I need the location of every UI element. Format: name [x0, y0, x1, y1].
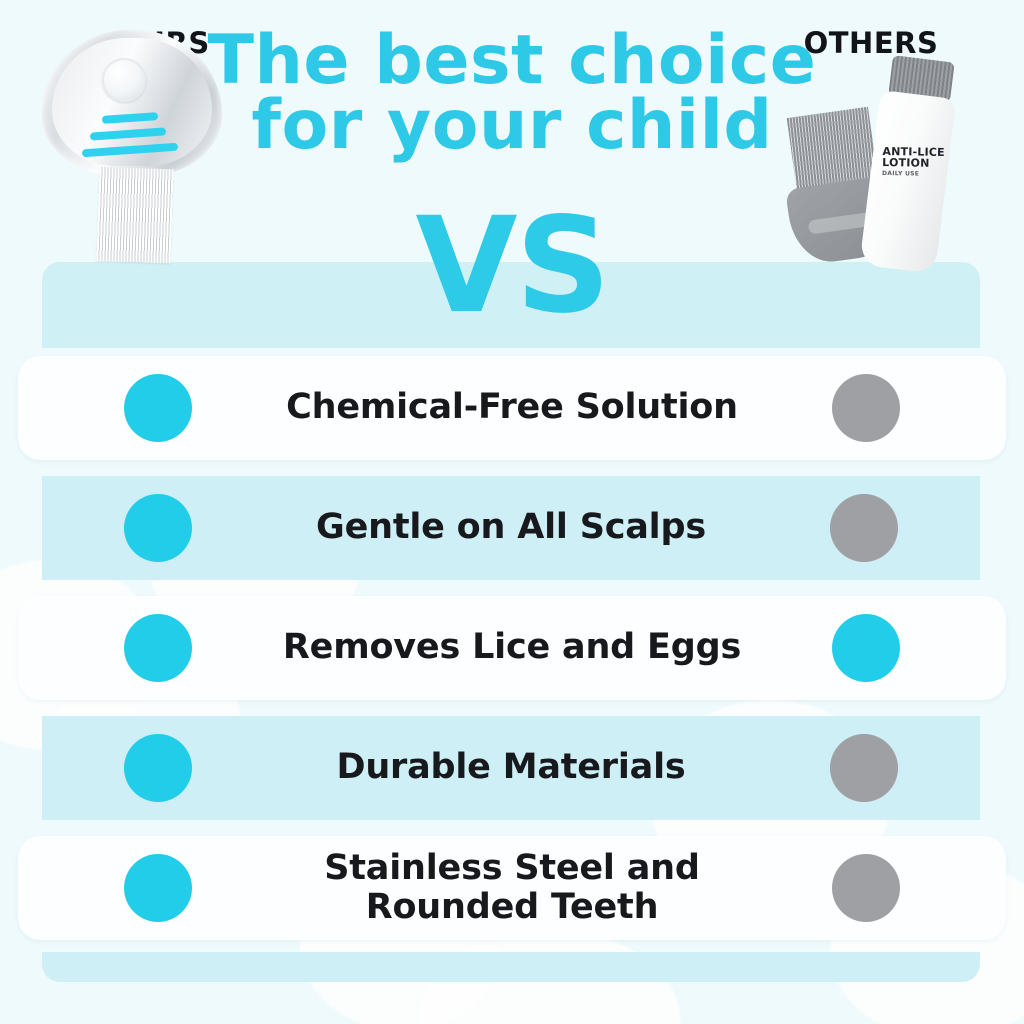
comparison-infographic: The best choice for your child VS ANTI-L… [0, 0, 1024, 1024]
feature-label-line-1: Chemical-Free Solution [286, 387, 738, 427]
table-row: Chemical-Free Solution [18, 356, 1006, 460]
cross-dot-others [830, 734, 898, 802]
feature-label-line-1: Gentle on All Scalps [316, 507, 706, 547]
cross-dot-others [832, 854, 900, 922]
headline-line-2: for your child [0, 93, 1024, 158]
table-row: Gentle on All Scalps [42, 476, 980, 580]
table-row: Removes Lice and Eggs [18, 596, 1006, 700]
check-dot-others [832, 614, 900, 682]
bottle-label-sub: DAILY USE [882, 170, 946, 178]
feature-label-line-1: Durable Materials [336, 747, 685, 787]
bottle-label-line-2: LOTION [882, 157, 946, 169]
page-title: The best choice for your child [0, 28, 1024, 159]
feature-label-line-1: Stainless Steel and [324, 848, 699, 888]
cross-dot-others [832, 374, 900, 442]
cross-dot-others [830, 494, 898, 562]
feature-label-line-1: Removes Lice and Eggs [283, 627, 741, 667]
versus-label: VS [0, 200, 1024, 332]
table-footer-band [42, 952, 980, 982]
table-row: Durable Materials [42, 716, 980, 820]
table-row: Stainless Steel andRounded Teeth [18, 836, 1006, 940]
